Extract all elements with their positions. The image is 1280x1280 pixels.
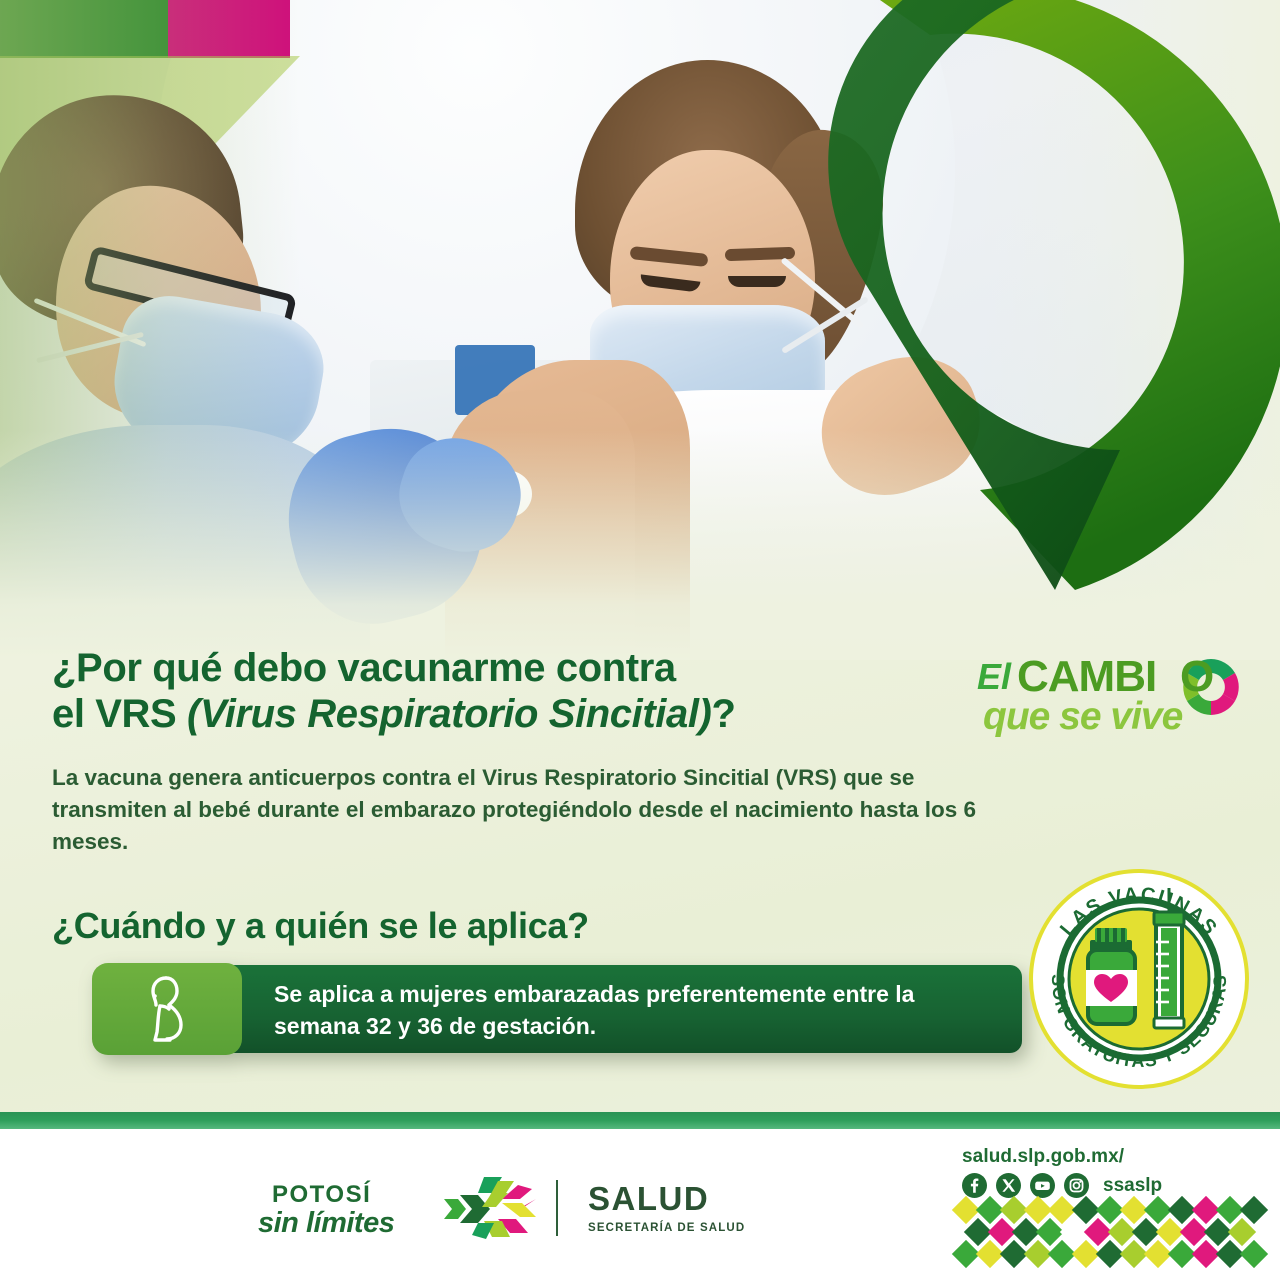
decorative-diamond-pattern xyxy=(950,1196,1280,1280)
green-arc-graphic xyxy=(820,0,1280,670)
body-paragraph: La vacuna genera anticuerpos contra el V… xyxy=(52,762,1012,858)
poster-root: ¿Por qué debo vacunarme contra el VRS (V… xyxy=(0,0,1280,1280)
el-cambio-logo: El CAMBI O que se vive xyxy=(975,645,1240,745)
cambio-word-cambio: CAMBI xyxy=(1017,652,1156,701)
potosi-word-bottom: sin límites xyxy=(258,1207,395,1239)
headline-line-2-pre: el VRS xyxy=(52,692,187,736)
headline-line-1: ¿Por qué debo vacunarme contra xyxy=(52,646,676,690)
social-block: salud.slp.gob.mx/ ssaslp xyxy=(962,1146,1262,1198)
info-bar-text: Se aplica a mujeres embarazadas preferen… xyxy=(274,979,994,1042)
instagram-icon[interactable] xyxy=(1064,1173,1089,1198)
headline-line-2-italic: (Virus Respiratorio Sincitial) xyxy=(187,692,711,736)
website-url[interactable]: salud.slp.gob.mx/ xyxy=(962,1146,1262,1168)
info-bar: Se aplica a mujeres embarazadas preferen… xyxy=(92,965,1022,1053)
youtube-icon[interactable] xyxy=(1030,1173,1055,1198)
patient-eye-right xyxy=(728,276,786,287)
headline-question-1: ¿Por qué debo vacunarme contra el VRS (V… xyxy=(52,646,882,737)
salud-logo: SALUD SECRETARÍA DE SALUD xyxy=(588,1182,788,1237)
potosi-sin-limites-logo: POTOSÍ sin límites xyxy=(258,1175,548,1241)
salud-title: SALUD xyxy=(588,1182,788,1215)
headline-line-2-post: ? xyxy=(711,692,735,736)
social-handle: ssaslp xyxy=(1103,1175,1162,1197)
social-icons-row: ssaslp xyxy=(962,1173,1262,1198)
cambio-word-el: El xyxy=(977,656,1012,697)
pregnant-woman-icon xyxy=(92,963,242,1055)
green-divider-bar xyxy=(0,1112,1280,1129)
cambio-word-o: O xyxy=(1180,652,1214,701)
footer-divider xyxy=(556,1180,558,1236)
x-twitter-icon[interactable] xyxy=(996,1173,1021,1198)
vaccine-seal-badge: LAS VACUNAS SON GRATUITAS Y SEGURAS xyxy=(1028,868,1250,1090)
potosi-word-top: POTOSÍ xyxy=(272,1180,371,1208)
headline-question-2: ¿Cuándo y a quién se le aplica? xyxy=(52,905,589,947)
cambio-line2: que se vive xyxy=(983,695,1183,738)
facebook-icon[interactable] xyxy=(962,1173,987,1198)
salud-subtitle: SECRETARÍA DE SALUD xyxy=(588,1222,788,1234)
